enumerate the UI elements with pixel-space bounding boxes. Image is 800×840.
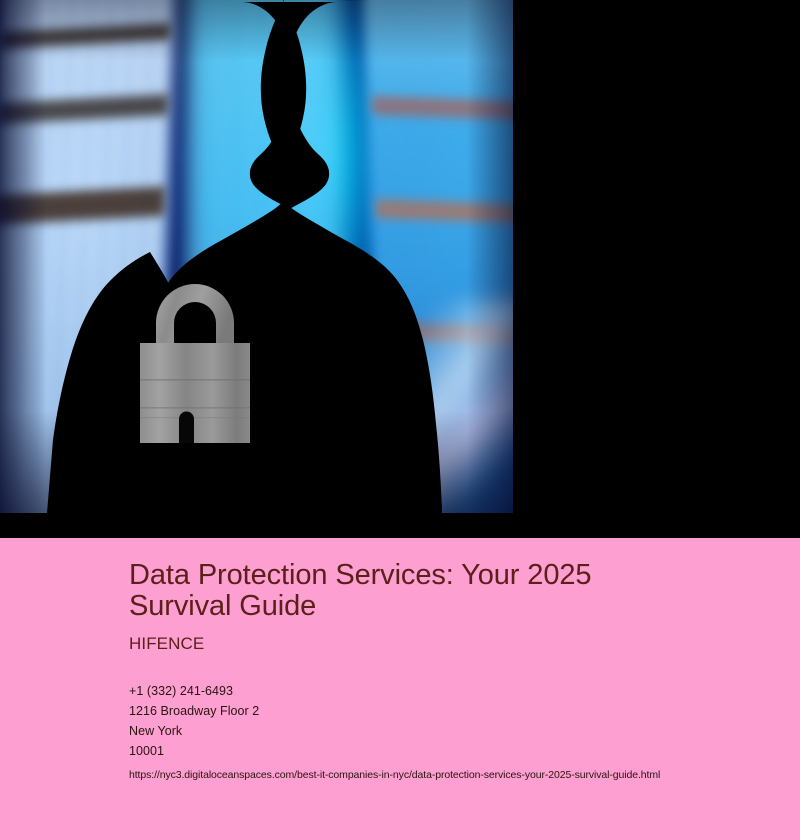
contact-phone[interactable]: +1 (332) 241-6493 [129,681,760,701]
page-title: Data Protection Services: Your 2025 Surv… [129,560,669,622]
contact-city: New York [129,721,760,741]
content-panel: Data Protection Services: Your 2025 Surv… [0,538,800,840]
content-inner: Data Protection Services: Your 2025 Surv… [129,560,760,782]
brand-name: HIFENCE [129,634,760,654]
contact-street: 1216 Broadway Floor 2 [129,701,760,721]
page-root: Data Protection Services: Your 2025 Surv… [0,0,800,840]
hero-band [0,0,800,538]
padlock-icon [132,283,258,451]
hero-photo [0,0,513,513]
source-url[interactable]: https://nyc3.digitaloceanspaces.com/best… [129,768,760,782]
contact-postal-code: 10001 [129,741,760,761]
contact-block: +1 (332) 241-6493 1216 Broadway Floor 2 … [129,681,760,761]
